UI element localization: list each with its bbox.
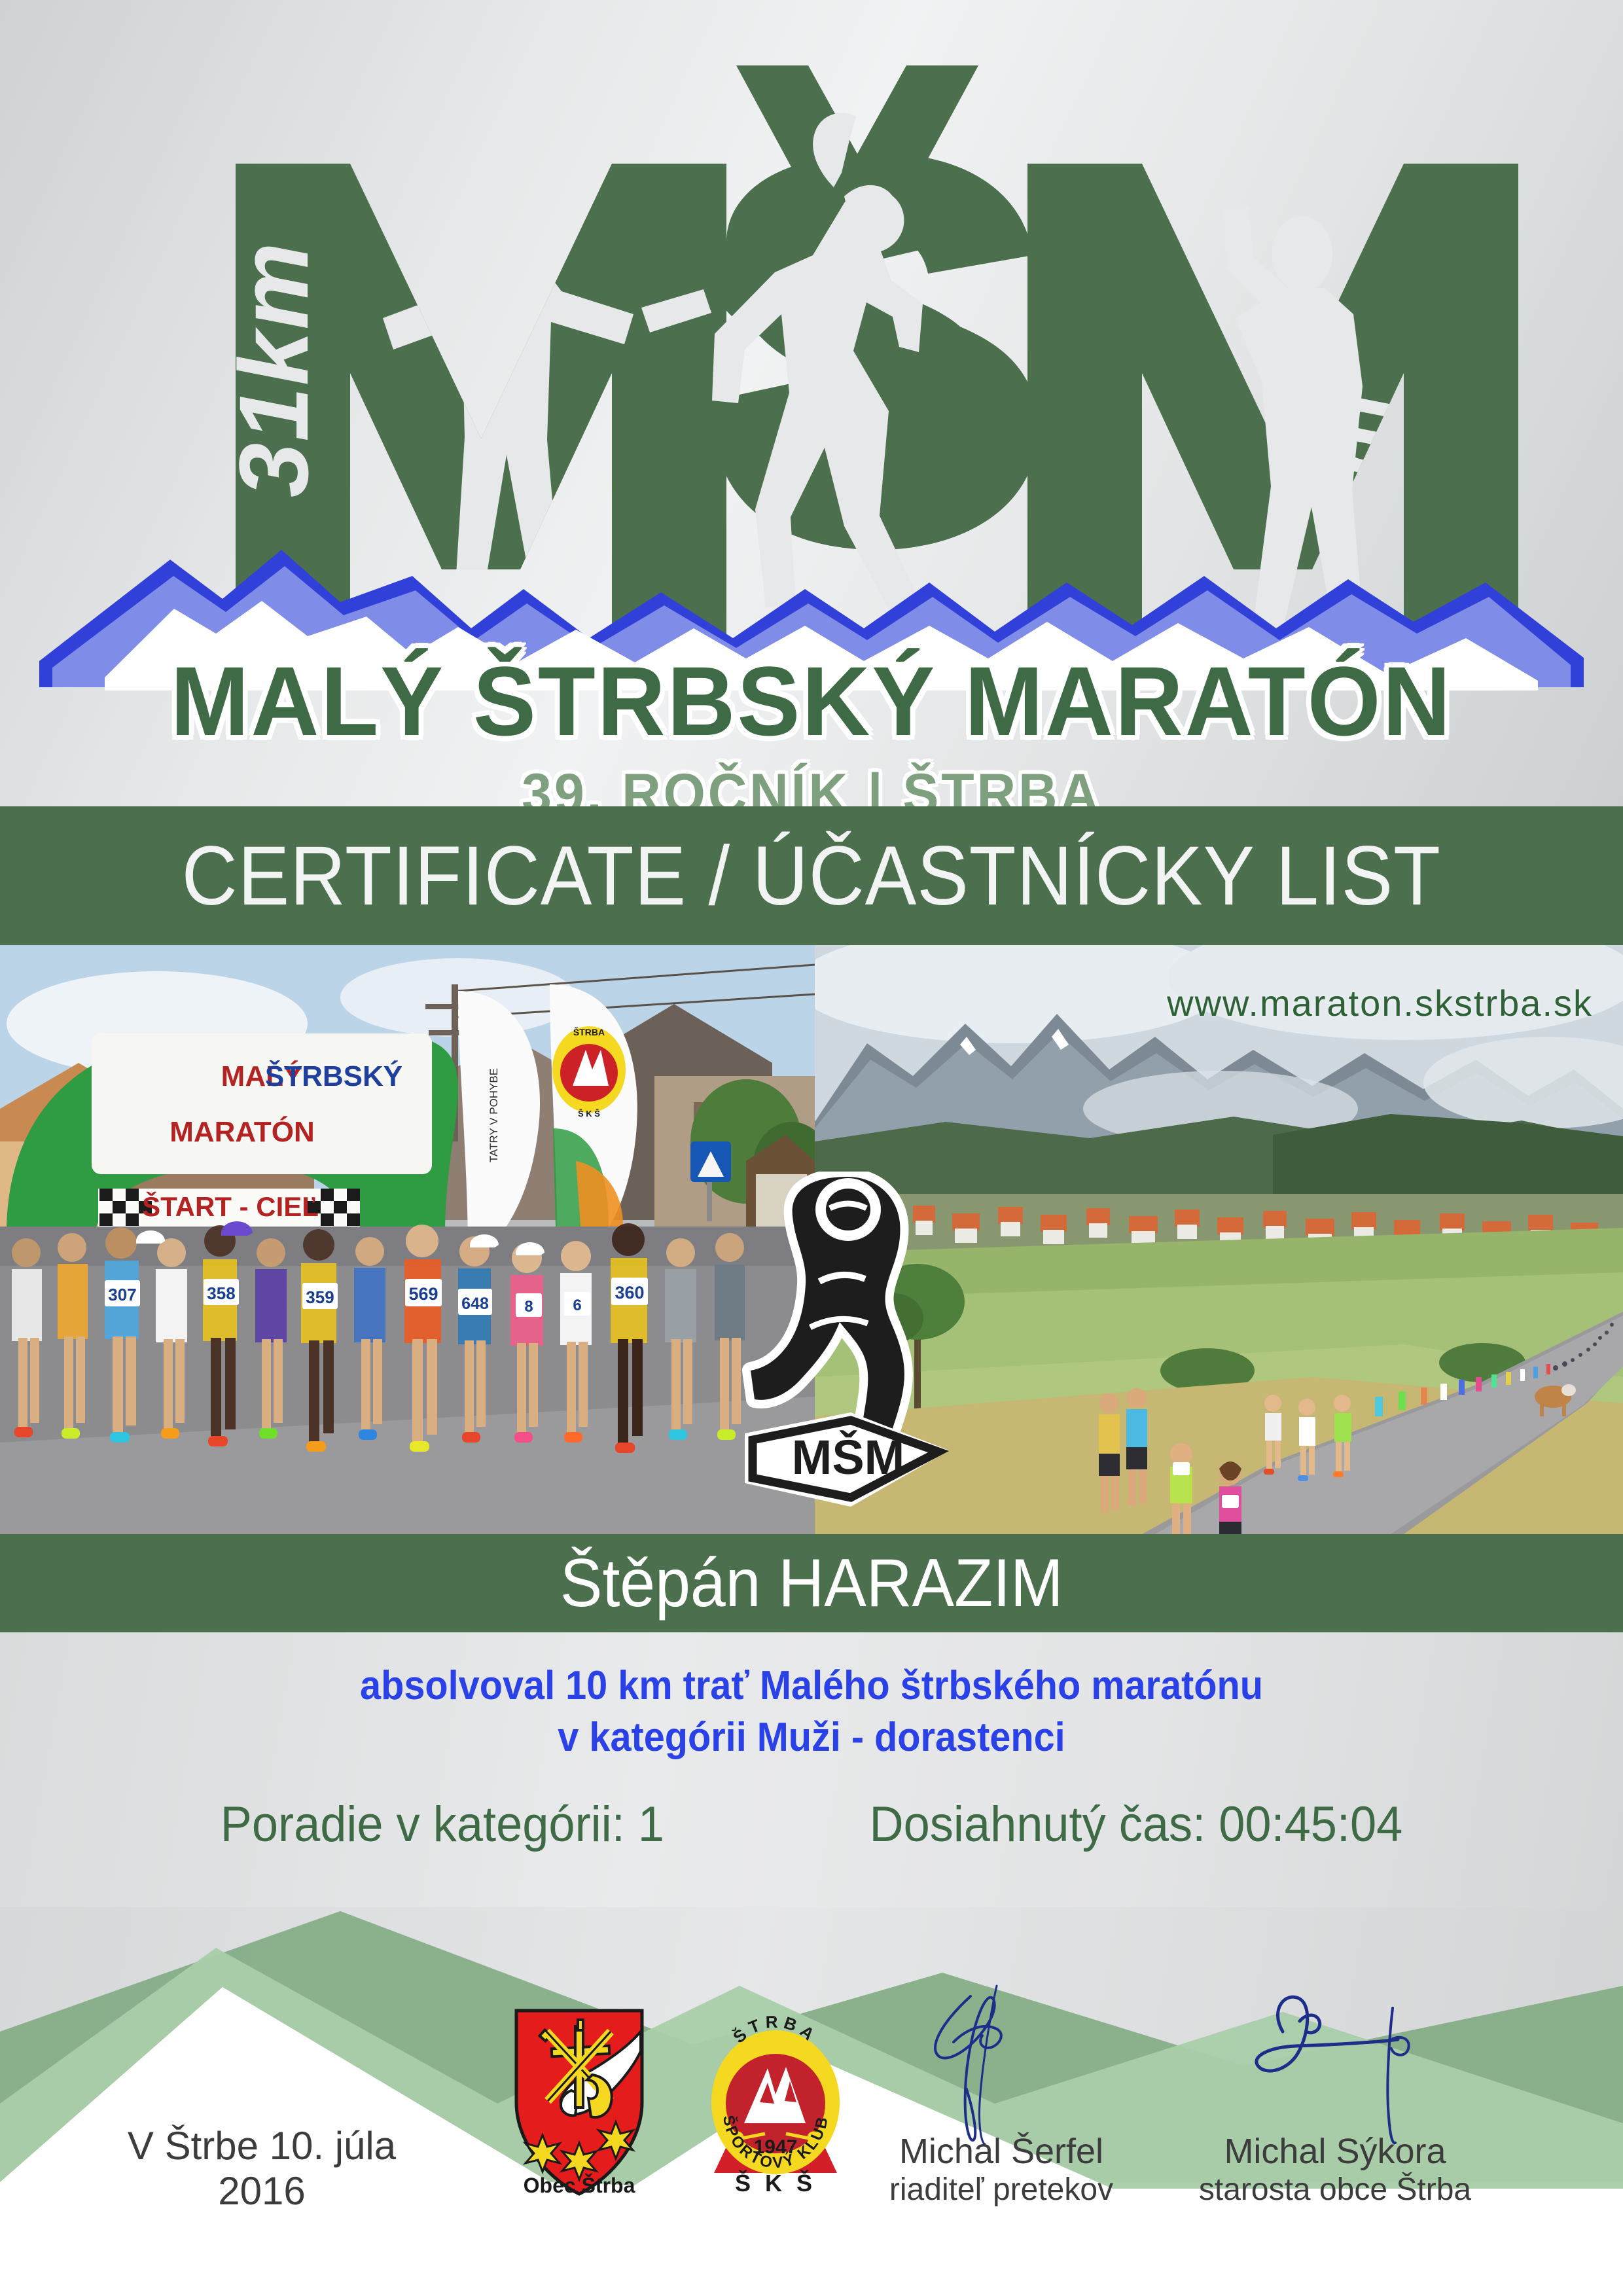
signatory-name: Michal Šerfel bbox=[844, 2131, 1158, 2172]
finish-time: Dosiahnutý čas: 00:45:04 bbox=[869, 1796, 1402, 1853]
signatory-name: Michal Sýkora bbox=[1178, 2131, 1492, 2172]
svg-text:ŠTRBSKÝ: ŠTRBSKÝ bbox=[265, 1059, 402, 1092]
svg-text:569: 569 bbox=[408, 1284, 438, 1304]
svg-text:360: 360 bbox=[615, 1283, 644, 1302]
svg-text:MARATÓN: MARATÓN bbox=[169, 1115, 315, 1148]
participant-name-band: Štěpán HARAZIM bbox=[0, 1534, 1623, 1632]
distance-31km-text: 31km bbox=[219, 241, 329, 497]
svg-text:ŠTRBA: ŠTRBA bbox=[573, 1026, 605, 1037]
certificate-title: CERTIFICATE / ÚČASTNÍCKY LIST bbox=[182, 828, 1441, 924]
svg-text:Š K Š: Š K Š bbox=[578, 1109, 600, 1119]
participation-description: absolvoval 10 km trať Malého štrbského m… bbox=[57, 1660, 1566, 1764]
description-line-1: absolvoval 10 km trať Malého štrbského m… bbox=[57, 1660, 1566, 1712]
msm-runner-badge-icon: MŠM bbox=[733, 1172, 969, 1512]
signature-scribble-1 bbox=[893, 1979, 1109, 2149]
svg-text:307: 307 bbox=[108, 1285, 136, 1304]
signature-scribble-2 bbox=[1217, 1979, 1453, 2149]
result-section: absolvoval 10 km trať Malého štrbského m… bbox=[0, 1632, 1623, 1907]
logo-subtitle-text: 39. ROČNÍK | ŠTRBA bbox=[33, 762, 1591, 806]
svg-text:TATRY V POHYBE: TATRY V POHYBE bbox=[488, 1068, 500, 1162]
logo-title: MALÝ ŠTRBSKÝ MARATÓN 39. ROČNÍK | ŠTRBA bbox=[0, 645, 1623, 806]
footer: V Štrbe 10. júla 2016 bbox=[0, 1907, 1623, 2296]
svg-text:8: 8 bbox=[524, 1298, 533, 1316]
website-url: www.maraton.skstrba.sk bbox=[1167, 982, 1593, 1024]
crest-bottom-text: Š K Š bbox=[735, 2169, 816, 2197]
letter-m-right: 10km bbox=[1027, 164, 1518, 648]
description-line-2: v kategórii Muži - dorastenci bbox=[57, 1712, 1566, 1763]
svg-text:6: 6 bbox=[573, 1297, 581, 1314]
crest-obec-strba-icon: Obec Štrba bbox=[501, 2004, 658, 2200]
svg-text:359: 359 bbox=[306, 1287, 334, 1307]
signature-block-mayor: Michal Sýkora starosta obce Štrba bbox=[1178, 1979, 1492, 2208]
photo-race-start: MALÝ ŠTRBSKÝ MARATÓN ŠTART - CIEĽ bbox=[0, 945, 815, 1534]
crest-label: Obec Štrba bbox=[524, 2174, 635, 2197]
signatory-role: starosta obce Štrba bbox=[1178, 2172, 1492, 2208]
signatory-role: riaditeľ pretekov bbox=[844, 2172, 1158, 2208]
result-row: Poradie v kategórii: 1 Dosiahnutý čas: 0… bbox=[41, 1796, 1582, 1853]
crest-sks-strba-icon: 1947 ŠTRBA ŠPORTOVÝ KLUB Š K Š bbox=[697, 2004, 854, 2200]
signature-block-director: Michal Šerfel riaditeľ pretekov bbox=[844, 1979, 1158, 2208]
svg-text:648: 648 bbox=[461, 1295, 489, 1313]
participant-name: Štěpán HARAZIM bbox=[560, 1545, 1063, 1623]
certificate-page: 31km bbox=[0, 0, 1623, 2296]
issue-date: V Štrbe 10. júla 2016 bbox=[79, 2123, 445, 2214]
msm-badge-label: MŠM bbox=[792, 1430, 905, 1484]
certificate-band: CERTIFICATE / ÚČASTNÍCKY LIST bbox=[0, 806, 1623, 945]
logo-title-text: MALÝ ŠTRBSKÝ MARATÓN bbox=[33, 645, 1591, 758]
category-rank: Poradie v kategórii: 1 bbox=[221, 1796, 664, 1853]
svg-text:ŠTART - CIEĽ: ŠTART - CIEĽ bbox=[142, 1191, 319, 1222]
svg-text:358: 358 bbox=[207, 1283, 235, 1303]
logo-header: 31km bbox=[0, 0, 1623, 806]
